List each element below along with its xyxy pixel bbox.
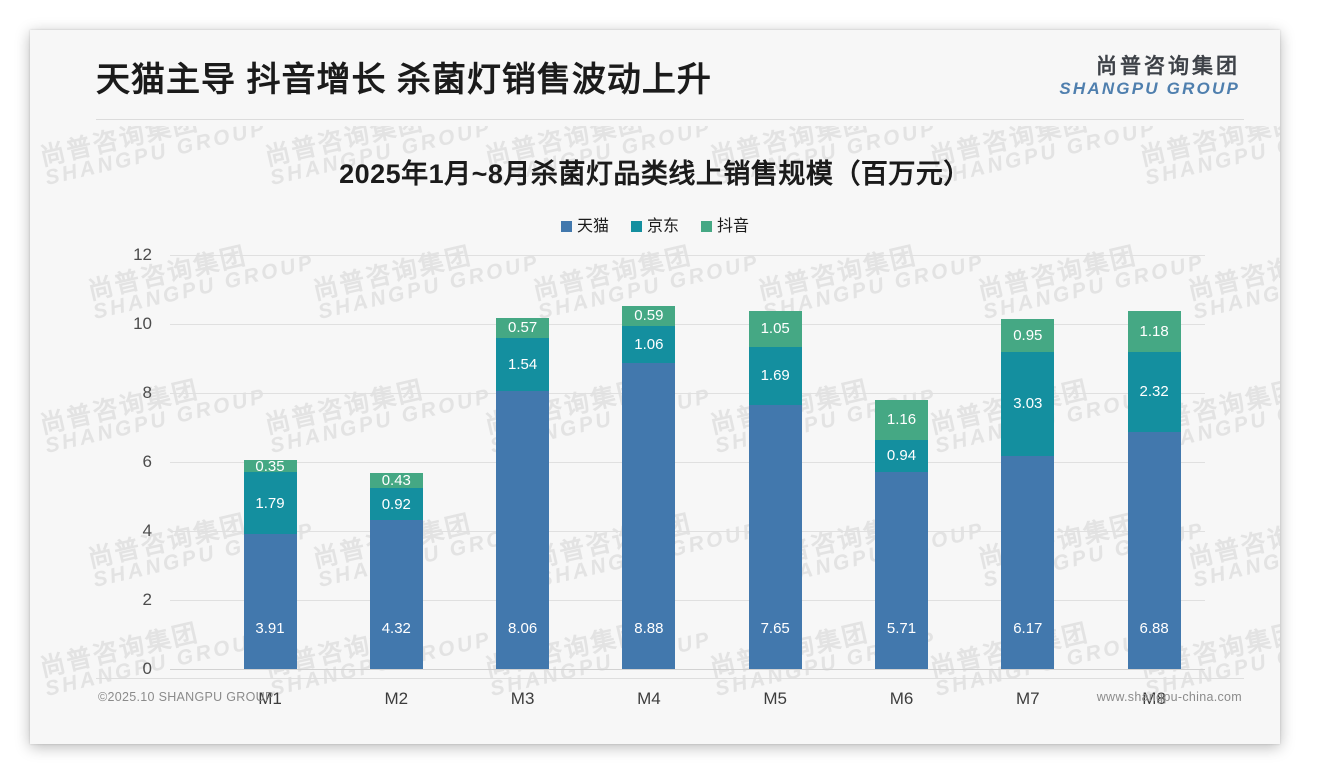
bar-value-label: 8.06 (496, 621, 549, 636)
x-axis-tick-label: M5 (725, 689, 825, 709)
gridline (170, 669, 1205, 670)
y-axis-tick-label: 6 (92, 452, 152, 472)
bar-value-label: 8.88 (622, 621, 675, 636)
y-axis-tick-label: 8 (92, 383, 152, 403)
x-axis-tick-label: M4 (599, 689, 699, 709)
y-axis-tick-label: 4 (92, 521, 152, 541)
chart-grid: 0246810123.911.790.35M14.320.920.43M28.0… (170, 30, 1205, 744)
footer-website[interactable]: www.shangpu-china.com (1097, 690, 1242, 704)
x-axis-tick-label: M7 (978, 689, 1078, 709)
bar-value-label: 7.65 (749, 621, 802, 636)
footer-copyright: ©2025.10 SHANGPU GROUP (98, 690, 274, 704)
bar-value-label: 6.17 (1001, 621, 1054, 636)
bar-value-label: 0.95 (1001, 328, 1054, 343)
bar-value-label: 0.35 (244, 459, 297, 474)
bar-value-label: 6.88 (1128, 621, 1181, 636)
bar-value-label: 0.59 (622, 308, 675, 323)
bar-value-label: 5.71 (875, 621, 928, 636)
gridline (170, 255, 1205, 256)
bar-value-label: 1.79 (244, 496, 297, 511)
bar-value-label: 1.54 (496, 357, 549, 372)
footer-divider (96, 678, 1244, 679)
bar-segment[interactable] (1001, 456, 1054, 669)
bar-value-label: 1.18 (1128, 324, 1181, 339)
bar-value-label: 2.32 (1128, 384, 1181, 399)
slide-card: 尚普咨询集团SHANGPU GROUP尚普咨询集团SHANGPU GROUP尚普… (30, 30, 1280, 744)
bar-value-label: 0.94 (875, 448, 928, 463)
bar-value-label: 0.92 (370, 497, 423, 512)
x-axis-tick-label: M2 (346, 689, 446, 709)
bar-value-label: 1.69 (749, 368, 802, 383)
x-axis-tick-label: M6 (852, 689, 952, 709)
chart-plot-area: 0246810123.911.790.35M14.320.920.43M28.0… (30, 30, 1280, 744)
y-axis-tick-label: 0 (92, 659, 152, 679)
bar-segment[interactable] (370, 520, 423, 669)
bar-value-label: 1.05 (749, 321, 802, 336)
bar-value-label: 3.91 (244, 621, 297, 636)
bar-value-label: 1.06 (622, 337, 675, 352)
y-axis-tick-label: 12 (92, 245, 152, 265)
bar-segment[interactable] (244, 534, 297, 669)
bar-value-label: 3.03 (1001, 396, 1054, 411)
bar-segment[interactable] (875, 472, 928, 669)
x-axis-tick-label: M3 (473, 689, 573, 709)
y-axis-tick-label: 10 (92, 314, 152, 334)
y-axis-tick-label: 2 (92, 590, 152, 610)
bar-value-label: 0.57 (496, 320, 549, 335)
bar-value-label: 4.32 (370, 621, 423, 636)
bar-value-label: 0.43 (370, 473, 423, 488)
bar-value-label: 1.16 (875, 412, 928, 427)
